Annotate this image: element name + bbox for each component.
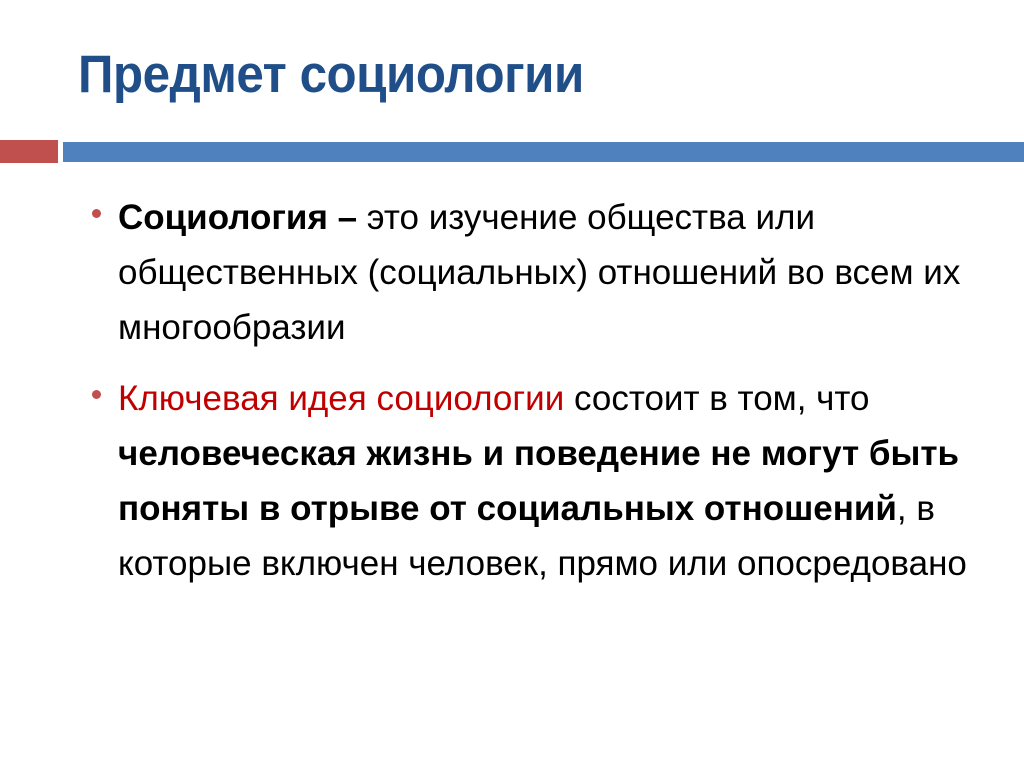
bullet-2-run-emphasis: человеческая жизнь и поведение не могут … [118, 434, 959, 528]
bullet-1-run-term: Социология – [118, 198, 367, 237]
bullet-2-run-connector: состоит в том, что [564, 379, 869, 418]
list-item: Социология – это изучение общества или о… [85, 190, 993, 355]
list-item-text: Ключевая идея социологии состоит в том, … [118, 371, 993, 591]
list-item: Ключевая идея социологии состоит в том, … [85, 371, 993, 591]
slide: Предмет социологии Социология – это изуч… [0, 0, 1024, 767]
body-content: Социология – это изучение общества или о… [85, 190, 993, 607]
page-title: Предмет социологии [78, 44, 915, 108]
title-divider [0, 140, 1024, 164]
bullet-dot-icon [92, 390, 101, 399]
list-item-text: Социология – это изучение общества или о… [118, 190, 993, 355]
bullet-2-run-key-idea: Ключевая идея социологии [118, 379, 564, 418]
bullet-dot-icon [92, 209, 101, 218]
divider-red-accent-block [0, 140, 58, 163]
divider-blue-accent-bar [63, 142, 1024, 162]
